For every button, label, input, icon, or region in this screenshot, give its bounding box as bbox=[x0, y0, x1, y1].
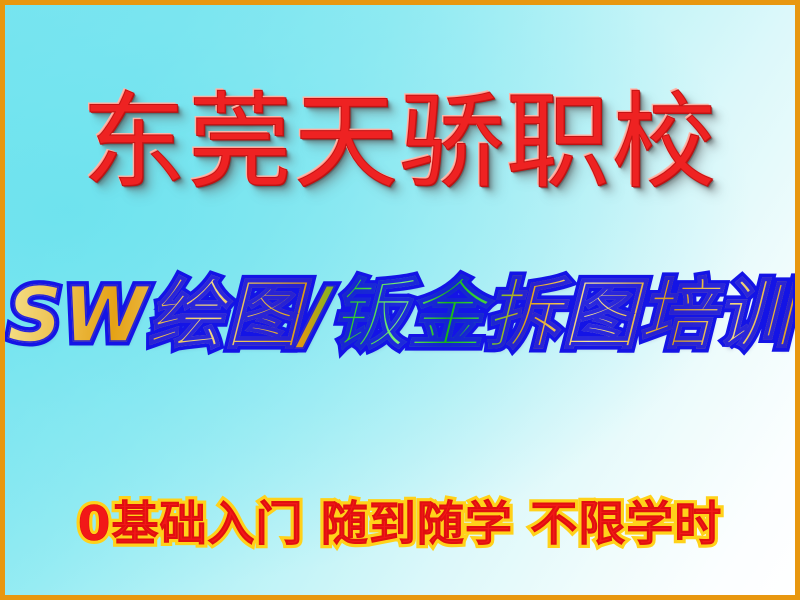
title-block: 东莞天骄职校 bbox=[5, 83, 795, 201]
poster-slide: 东莞天骄职校 SW绘图/钣金拆图培训 SW绘图/钣金拆图培训 0基础入门 随到随… bbox=[0, 0, 800, 600]
subtitle-wordart: SW绘图/钣金拆图培训 SW绘图/钣金拆图培训 bbox=[7, 277, 792, 353]
tagline-block: 0基础入门 随到随学 不限学时 0基础入门 随到随学 不限学时 bbox=[5, 493, 795, 555]
tagline-wordart: 0基础入门 随到随学 不限学时 0基础入门 随到随学 不限学时 bbox=[78, 501, 722, 548]
tagline-text: 0基础入门 随到随学 不限学时 bbox=[78, 497, 722, 552]
page-title: 东莞天骄职校 bbox=[82, 90, 718, 194]
poster-content: 东莞天骄职校 SW绘图/钣金拆图培训 SW绘图/钣金拆图培训 0基础入门 随到随… bbox=[5, 5, 795, 595]
subtitle-text: SW绘图/钣金拆图培训 bbox=[7, 270, 792, 359]
subtitle-block: SW绘图/钣金拆图培训 SW绘图/钣金拆图培训 bbox=[5, 267, 795, 363]
